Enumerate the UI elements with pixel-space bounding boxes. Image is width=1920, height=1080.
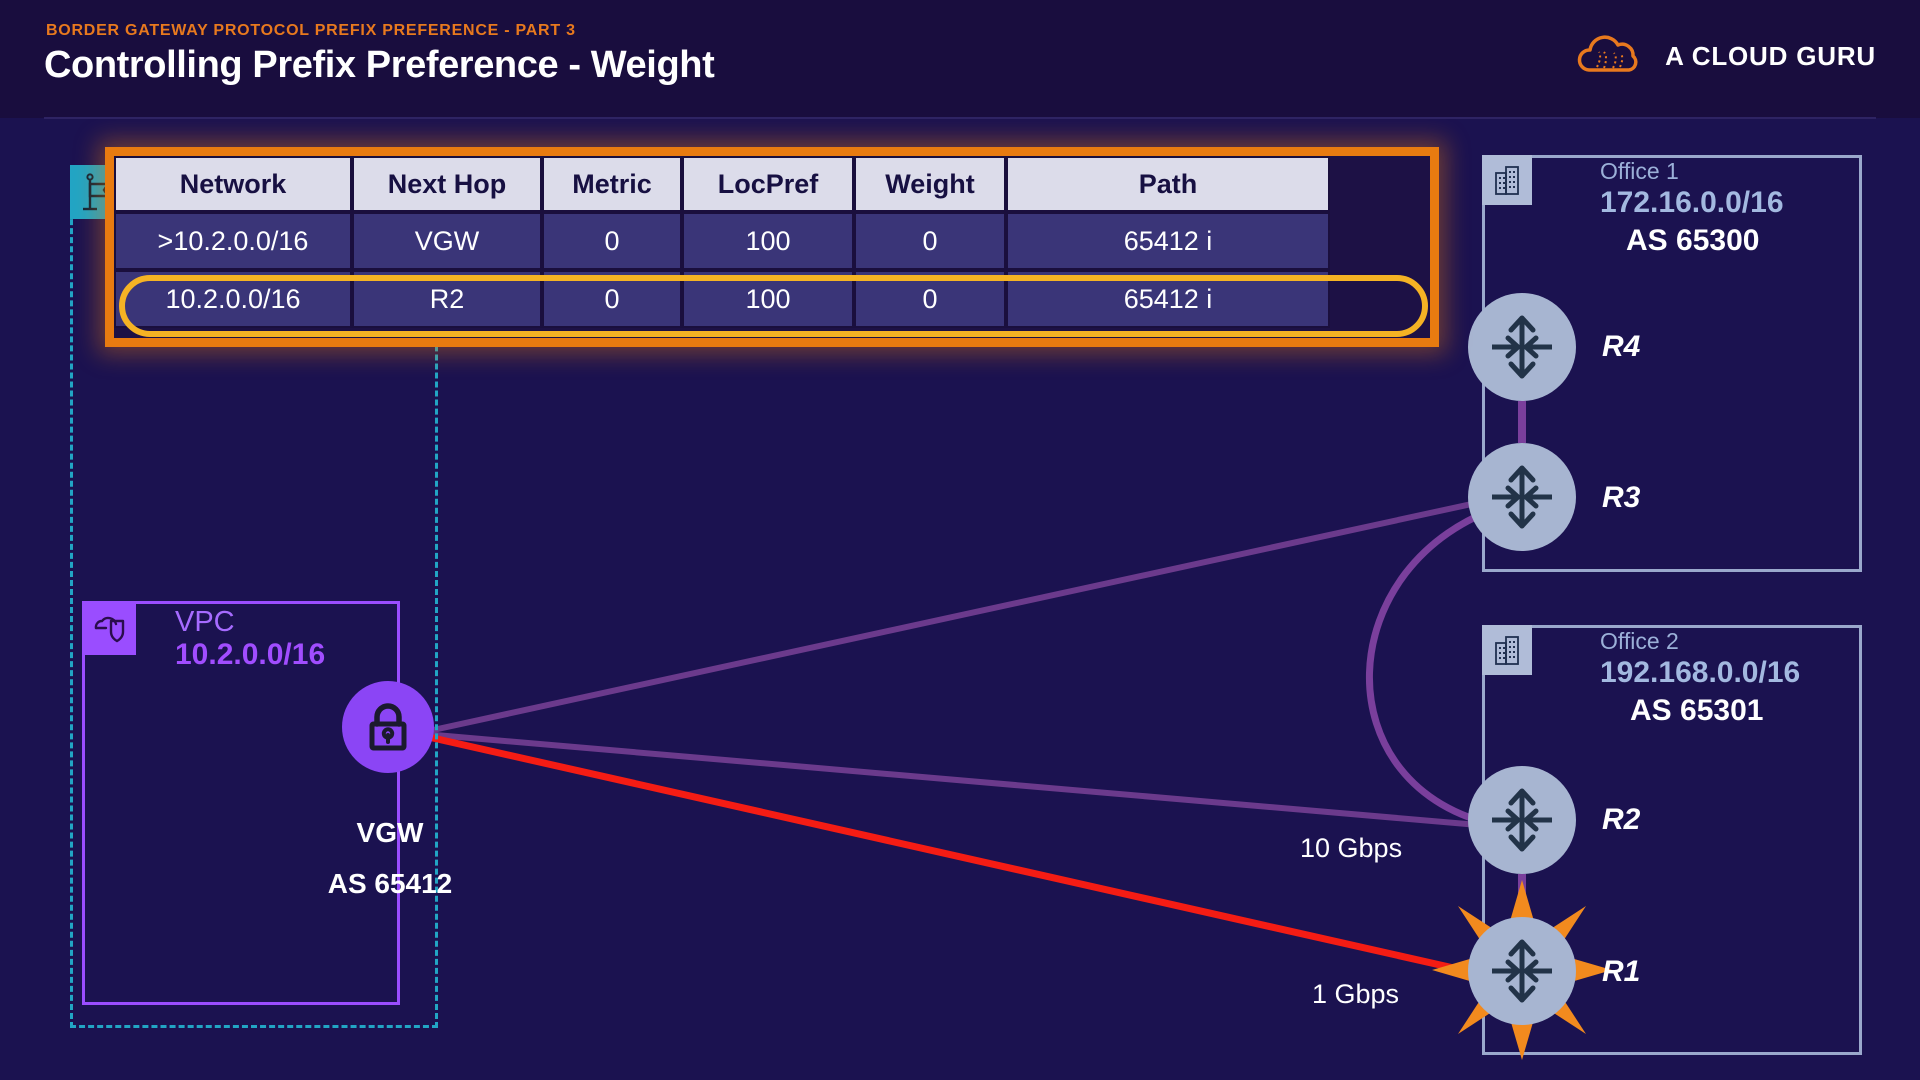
cloud-icon — [1575, 34, 1647, 78]
office1-cidr: 172.16.0.0/16 — [1600, 188, 1784, 218]
router-label-r1: R1 — [1602, 955, 1640, 989]
router-label-r2: R2 — [1602, 803, 1640, 837]
cell-network: >10.2.0.0/16 — [114, 212, 352, 270]
cell-weight: 0 — [854, 270, 1006, 328]
office2-as: AS 65301 — [1630, 696, 1763, 726]
table-header-row: Network Next Hop Metric LocPref Weight P… — [114, 156, 1330, 212]
router-label-r3: R3 — [1602, 481, 1640, 515]
table-row[interactable]: 10.2.0.0/16 R2 0 100 0 65412 i — [114, 270, 1330, 328]
office1-as: AS 65300 — [1626, 226, 1759, 256]
bandwidth-label-10gbps: 10 Gbps — [1300, 833, 1402, 864]
course-eyebrow-text: BORDER GATEWAY PROTOCOL PREFIX PREFERENC… — [46, 22, 576, 40]
vpc-cloud-shield-icon — [82, 601, 136, 655]
column-header-path: Path — [1006, 156, 1330, 212]
cell-weight: 0 — [854, 212, 1006, 270]
router-node-r2[interactable] — [1468, 766, 1576, 874]
building-icon — [1482, 155, 1532, 205]
cell-network: 10.2.0.0/16 — [114, 270, 352, 328]
header-divider — [44, 117, 1876, 119]
building-icon — [1482, 625, 1532, 675]
link-vgw-r3 — [424, 500, 1490, 732]
cell-next-hop: R2 — [352, 270, 542, 328]
routing-table: Network Next Hop Metric LocPref Weight P… — [114, 156, 1330, 328]
office1-name: Office 1 — [1600, 160, 1679, 183]
router-label-r4: R4 — [1602, 330, 1640, 364]
slide-header: BORDER GATEWAY PROTOCOL PREFIX PREFERENC… — [0, 0, 1920, 118]
vgw-node[interactable] — [342, 681, 434, 773]
brand-logo: A CLOUD GURU — [1575, 34, 1876, 78]
brand-logo-text: A CLOUD GURU — [1665, 41, 1876, 72]
cell-path: 65412 i — [1006, 270, 1330, 328]
router-icon — [1486, 461, 1558, 533]
router-node-r3[interactable] — [1468, 443, 1576, 551]
vpc-label: VPC — [175, 608, 235, 637]
link-vgw-r2 — [424, 734, 1490, 826]
column-header-metric: Metric — [542, 156, 682, 212]
vgw-as-label: AS 65412 — [290, 868, 490, 900]
router-icon — [1486, 784, 1558, 856]
cell-metric: 0 — [542, 212, 682, 270]
cell-metric: 0 — [542, 270, 682, 328]
column-header-network: Network — [114, 156, 352, 212]
page-title: Controlling Prefix Preference - Weight — [44, 44, 714, 87]
table-row[interactable]: >10.2.0.0/16 VGW 0 100 0 65412 i — [114, 212, 1330, 270]
router-node-r1[interactable] — [1468, 917, 1576, 1025]
cell-locpref: 100 — [682, 270, 854, 328]
router-icon — [1486, 935, 1558, 1007]
router-node-r4[interactable] — [1468, 293, 1576, 401]
column-header-locpref: LocPref — [682, 156, 854, 212]
office2-name: Office 2 — [1600, 630, 1679, 653]
cell-locpref: 100 — [682, 212, 854, 270]
column-header-weight: Weight — [854, 156, 1006, 212]
column-header-next-hop: Next Hop — [352, 156, 542, 212]
bandwidth-label-1gbps: 1 Gbps — [1312, 979, 1399, 1010]
cell-path: 65412 i — [1006, 212, 1330, 270]
office2-cidr: 192.168.0.0/16 — [1600, 658, 1800, 688]
vgw-name-label: VGW — [310, 817, 470, 849]
router-icon — [1486, 311, 1558, 383]
lock-icon — [364, 702, 412, 754]
slide-canvas: VPC 10.2.0.0/16 VGW AS 65412 Office 1 17… — [0, 0, 1920, 1080]
cell-next-hop: VGW — [352, 212, 542, 270]
vpc-cidr: 10.2.0.0/16 — [175, 640, 325, 670]
